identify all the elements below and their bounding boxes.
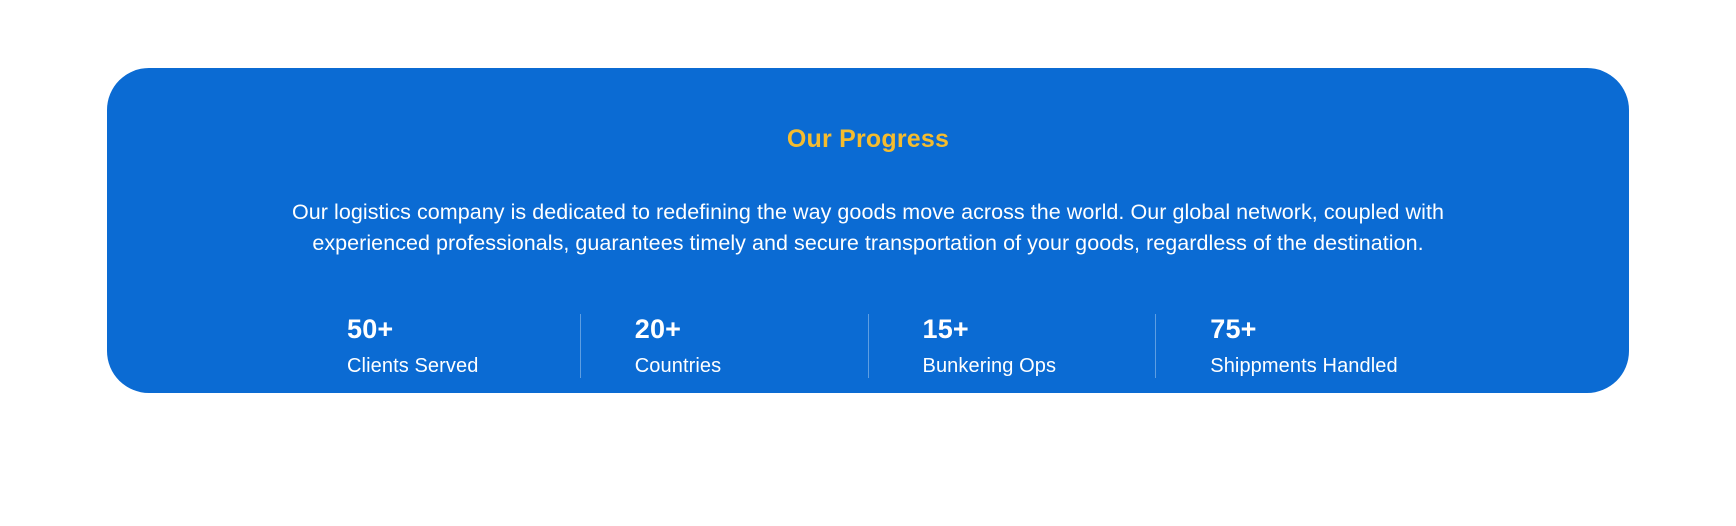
stat-label: Bunkering Ops [923,354,1057,378]
stats-row: 50+ Clients Served 20+ Countries 15+ Bun… [293,314,1443,378]
stat-label: Shippments Handled [1210,354,1397,378]
page-title: Our Progress [787,127,949,152]
stat-label: Countries [635,354,722,378]
card-description: Our logistics company is dedicated to re… [238,197,1498,259]
our-progress-card: Our Progress Our logistics company is de… [107,68,1629,393]
stat-value: 15+ [923,314,969,346]
stat-item-clients-served: 50+ Clients Served [293,314,580,378]
stat-value: 75+ [1210,314,1256,346]
stat-value: 20+ [635,314,681,346]
stat-value: 50+ [347,314,393,346]
stat-item-countries: 20+ Countries [580,314,868,378]
stat-item-bunkering-ops: 15+ Bunkering Ops [868,314,1156,378]
stat-label: Clients Served [347,354,478,378]
page-root: Our Progress Our logistics company is de… [0,0,1736,526]
stat-item-shippments-handled: 75+ Shippments Handled [1155,314,1443,378]
